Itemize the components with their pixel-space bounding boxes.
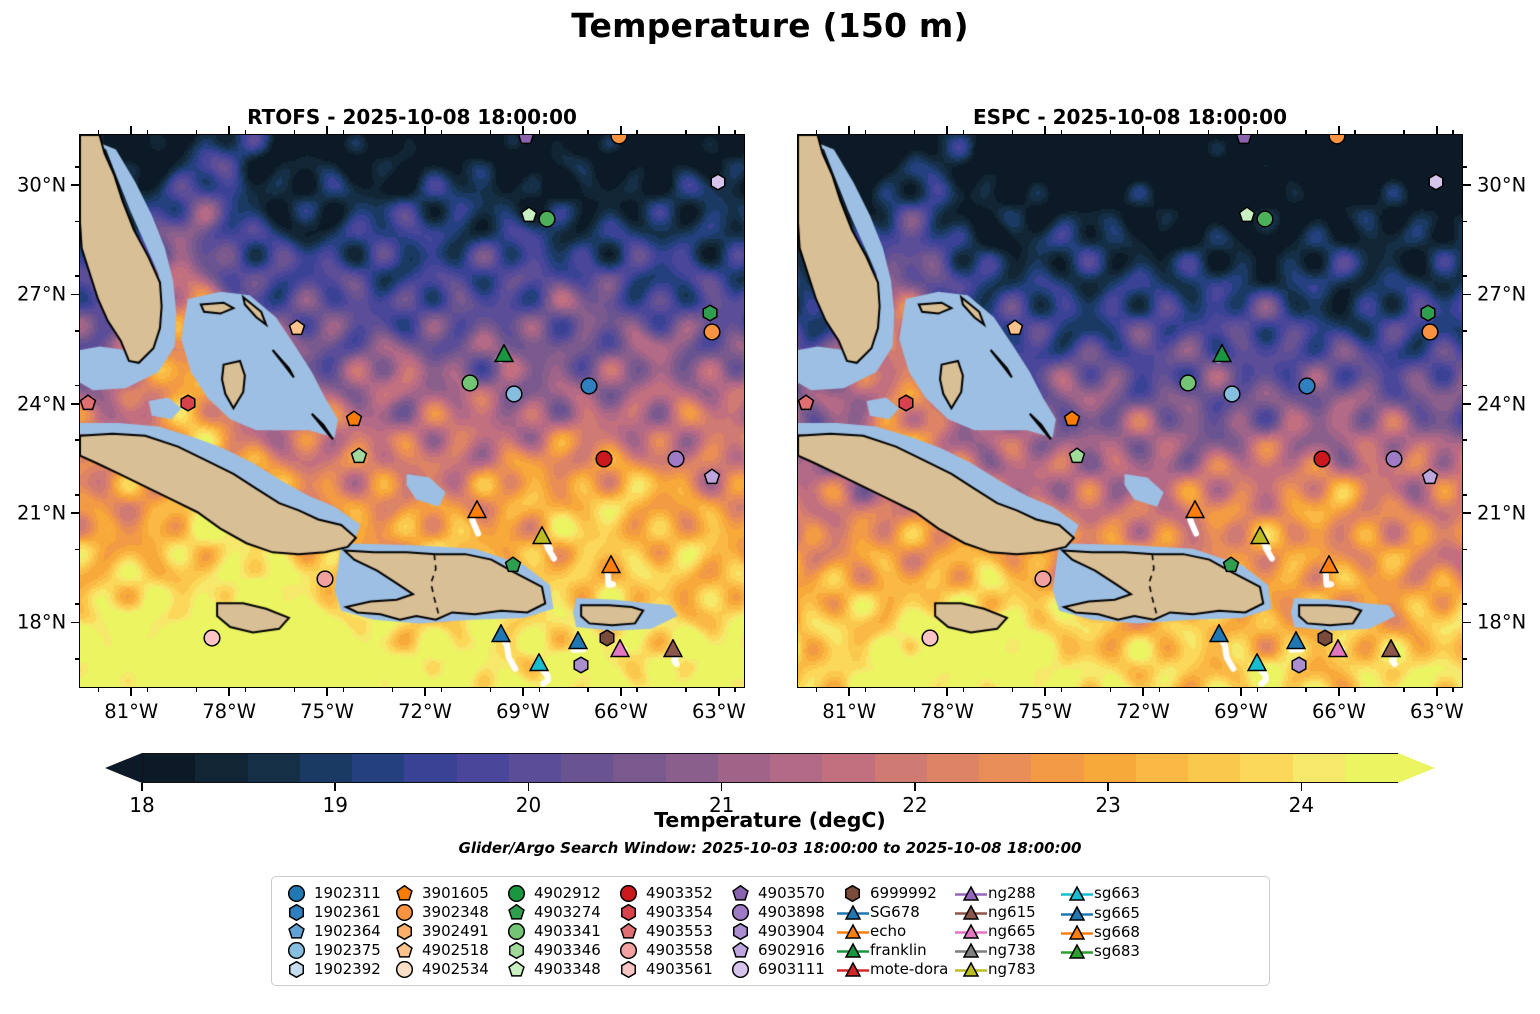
legend-item-3902491[interactable]: 3902491 xyxy=(388,922,500,941)
legend-item-3901605[interactable]: 3901605 xyxy=(388,884,500,903)
legend-column-6: 6999992 SG678 echo franklin mote-dora xyxy=(836,884,954,979)
legend-marker-hexagon-icon xyxy=(724,922,758,941)
legend-item-SG678[interactable]: SG678 xyxy=(836,903,954,922)
lon-tick xyxy=(1354,688,1356,692)
colorbar-segment xyxy=(509,754,563,782)
colorbar-segment xyxy=(1240,754,1294,782)
map-panel-rtofs[interactable] xyxy=(79,134,745,688)
legend-label: 1902364 xyxy=(314,922,381,941)
legend-label: 4902912 xyxy=(534,884,601,903)
legend-label: 4902518 xyxy=(422,941,489,960)
lon-tick xyxy=(441,688,443,692)
lon-tick xyxy=(1240,688,1242,696)
legend-item-mote-dora[interactable]: mote-dora xyxy=(836,960,954,979)
colorbar-tick xyxy=(141,783,143,791)
legend-marker-pentagon-icon xyxy=(612,922,646,941)
colorbar-segment xyxy=(770,754,824,782)
lon-tick xyxy=(865,688,867,692)
legend-marker-pentagon-icon xyxy=(724,884,758,903)
lon-label-66W-right: 66°W xyxy=(1312,700,1366,723)
lon-tick xyxy=(130,126,132,134)
legend-marker-circle-icon xyxy=(388,903,422,922)
legend-marker-circle-icon xyxy=(500,922,534,941)
lon-tick xyxy=(865,130,867,134)
colorbar-segment xyxy=(875,754,929,782)
lat-label-27N-left: 27°N xyxy=(17,283,66,306)
lat-tick xyxy=(71,512,79,514)
lat-tick xyxy=(71,294,79,296)
lon-tick xyxy=(392,130,394,134)
lon-label-66W-left: 66°W xyxy=(594,700,648,723)
lon-tick xyxy=(1159,130,1161,134)
lon-tick xyxy=(228,126,230,134)
lat-tick xyxy=(1463,439,1467,441)
legend-label: sg665 xyxy=(1094,904,1140,923)
lat-tick xyxy=(75,330,79,332)
legend-label: sg683 xyxy=(1094,942,1140,961)
legend-item-6903111[interactable]: 6903111 xyxy=(724,960,836,979)
lon-label-63W-left: 63°W xyxy=(692,700,746,723)
colorbar-segment xyxy=(195,754,249,782)
legend-box[interactable]: 1902311190236119023641902375190239239016… xyxy=(271,876,1270,986)
lat-tick xyxy=(1463,330,1467,332)
legend-label: 3902491 xyxy=(422,922,489,941)
legend-item-4903354[interactable]: 4903354 xyxy=(612,903,724,922)
lon-tick xyxy=(685,688,687,692)
lon-tick xyxy=(1142,688,1144,696)
legend-marker-circle-icon xyxy=(612,941,646,960)
lon-tick xyxy=(1159,688,1161,692)
legend-item-sg668[interactable]: sg668 xyxy=(1060,923,1164,942)
legend-marker-triangle-icon xyxy=(1060,904,1094,923)
legend-marker-hexagon-icon xyxy=(388,922,422,941)
panel-title-espc: ESPC - 2025-10-08 18:00:00 xyxy=(797,105,1463,129)
lon-tick xyxy=(816,130,818,134)
legend-column-5: 49035704903898490390469029166903111 xyxy=(724,884,836,979)
legend-label: sg663 xyxy=(1094,884,1140,903)
lon-tick xyxy=(539,688,541,692)
legend-marker-pentagon-icon xyxy=(724,941,758,960)
legend-label: 3902348 xyxy=(422,903,489,922)
lon-tick xyxy=(734,130,736,134)
lon-tick xyxy=(963,130,965,134)
legend-marker-triangle-icon xyxy=(1060,923,1094,942)
lat-tick xyxy=(1463,403,1471,405)
lon-tick xyxy=(147,130,149,134)
colorbar-segment xyxy=(666,754,720,782)
lon-tick xyxy=(1110,688,1112,692)
lon-tick xyxy=(1305,130,1307,134)
lon-tick xyxy=(685,130,687,134)
lon-tick xyxy=(1452,688,1454,692)
legend-label: ng288 xyxy=(988,884,1036,903)
legend-label: 6999992 xyxy=(870,884,937,903)
lon-label-78W-right: 78°W xyxy=(920,700,974,723)
lat-tick xyxy=(1463,294,1471,296)
lon-tick xyxy=(620,688,622,696)
lon-label-69W-left: 69°W xyxy=(496,700,550,723)
lon-tick xyxy=(424,126,426,134)
legend-label: 4903348 xyxy=(534,960,601,979)
legend-label: SG678 xyxy=(870,903,920,922)
lon-label-81W-right: 81°W xyxy=(822,700,876,723)
lon-tick xyxy=(1452,130,1454,134)
legend-marker-triangle-icon xyxy=(954,960,988,979)
legend-marker-triangle-icon xyxy=(954,903,988,922)
lon-label-72W-right: 72°W xyxy=(1116,700,1170,723)
figure-canvas: Temperature (150 m) RTOFS - 2025-10-08 1… xyxy=(0,0,1540,1014)
lat-label-24N-right: 24°N xyxy=(1477,392,1526,415)
lon-tick xyxy=(816,688,818,692)
panel-title-rtofs: RTOFS - 2025-10-08 18:00:00 xyxy=(79,105,745,129)
legend-marker-pentagon-icon xyxy=(388,941,422,960)
lat-tick xyxy=(1463,275,1467,277)
colorbar-segment xyxy=(143,754,197,782)
legend-item-4902912[interactable]: 4902912 xyxy=(500,884,612,903)
lat-tick xyxy=(71,622,79,624)
lon-tick xyxy=(636,688,638,692)
lat-tick xyxy=(75,439,79,441)
lon-tick xyxy=(98,688,100,692)
legend-item-4903348[interactable]: 4903348 xyxy=(500,960,612,979)
legend-label: 6903111 xyxy=(758,960,825,979)
legend-item-4902518[interactable]: 4902518 xyxy=(388,941,500,960)
colorbar-segment xyxy=(822,754,876,782)
colorbar-extend-low-arrow xyxy=(105,753,142,783)
legend-item-4903341[interactable]: 4903341 xyxy=(500,922,612,941)
legend-label: 4903561 xyxy=(646,960,713,979)
legend-label: 1902361 xyxy=(314,903,381,922)
colorbar-tick xyxy=(1107,783,1109,791)
legend-marker-pentagon-icon xyxy=(388,884,422,903)
legend-item-4903898[interactable]: 4903898 xyxy=(724,903,836,922)
lon-tick xyxy=(1044,688,1046,696)
lon-tick xyxy=(392,688,394,692)
legend-label: franklin xyxy=(870,941,927,960)
colorbar-segment xyxy=(1293,754,1347,782)
legend-marker-pentagon-icon xyxy=(500,960,534,979)
legend-marker-circle-icon xyxy=(388,960,422,979)
lon-tick xyxy=(1338,126,1340,134)
legend-label: 1902311 xyxy=(314,884,381,903)
lon-tick xyxy=(620,126,622,134)
lon-tick xyxy=(1240,126,1242,134)
legend-item-1902311[interactable]: 1902311 xyxy=(280,884,388,903)
lon-tick xyxy=(1338,688,1340,696)
legend-column-3: 49029124903274490334149033464903348 xyxy=(500,884,612,979)
lat-tick xyxy=(75,385,79,387)
legend-item-1902364[interactable]: 1902364 xyxy=(280,922,388,941)
colorbar-segment xyxy=(1031,754,1085,782)
lat-tick xyxy=(1463,385,1467,387)
lon-tick xyxy=(1208,130,1210,134)
legend-item-4903346[interactable]: 4903346 xyxy=(500,941,612,960)
colorbar-segment xyxy=(1188,754,1242,782)
legend-item-1902392[interactable]: 1902392 xyxy=(280,960,388,979)
legend-marker-circle-icon xyxy=(280,941,314,960)
lon-tick xyxy=(539,130,541,134)
lon-tick xyxy=(424,688,426,696)
legend-marker-triangle-icon xyxy=(1060,884,1094,903)
legend-marker-hexagon-icon xyxy=(612,960,646,979)
lon-tick xyxy=(914,130,916,134)
legend-label: sg668 xyxy=(1094,923,1140,942)
colorbar-segment xyxy=(561,754,615,782)
lat-label-18N-left: 18°N xyxy=(17,611,66,634)
lon-tick xyxy=(1436,126,1438,134)
legend-item-4903553[interactable]: 4903553 xyxy=(612,922,724,941)
legend-marker-triangle-icon xyxy=(836,903,870,922)
lon-tick xyxy=(294,130,296,134)
legend-label: 4903904 xyxy=(758,922,825,941)
colorbar-tick xyxy=(528,783,530,791)
lon-tick xyxy=(1208,688,1210,692)
legend-marker-circle-icon xyxy=(500,884,534,903)
lat-tick xyxy=(1463,622,1471,624)
legend-marker-circle-icon xyxy=(724,903,758,922)
legend-label: 4903558 xyxy=(646,941,713,960)
map-marker-ng615[interactable] xyxy=(663,639,683,663)
lon-tick xyxy=(490,688,492,692)
legend-marker-pentagon-icon xyxy=(280,922,314,941)
lon-tick xyxy=(1354,130,1356,134)
legend-label: 3901605 xyxy=(422,884,489,903)
lon-label-75W-left: 75°W xyxy=(300,700,354,723)
lon-tick xyxy=(946,126,948,134)
lat-tick xyxy=(75,166,79,168)
legend-label: 4902534 xyxy=(422,960,489,979)
legend-item-4903904[interactable]: 4903904 xyxy=(724,922,836,941)
legend-item-4903274[interactable]: 4903274 xyxy=(500,903,612,922)
lon-tick xyxy=(326,688,328,696)
figure-suptitle: Temperature (150 m) xyxy=(0,6,1540,45)
lon-tick xyxy=(848,688,850,696)
lat-tick xyxy=(1463,166,1467,168)
lon-tick xyxy=(522,688,524,696)
lon-tick xyxy=(343,688,345,692)
lon-label-69W-right: 69°W xyxy=(1214,700,1268,723)
lon-tick xyxy=(718,126,720,134)
lon-tick xyxy=(1012,688,1014,692)
colorbar-tick xyxy=(721,783,723,791)
map-marker-ng615[interactable] xyxy=(1381,639,1401,663)
legend-item-ng738[interactable]: ng738 xyxy=(954,941,1060,960)
colorbar-segment xyxy=(457,754,511,782)
lat-tick xyxy=(1463,603,1467,605)
lon-tick xyxy=(636,130,638,134)
lon-tick xyxy=(1142,126,1144,134)
lon-tick xyxy=(343,130,345,134)
legend-marker-triangle-icon xyxy=(836,941,870,960)
lat-label-18N-right: 18°N xyxy=(1477,611,1526,634)
lon-label-78W-left: 78°W xyxy=(202,700,256,723)
lon-tick xyxy=(1403,130,1405,134)
lon-tick xyxy=(1403,688,1405,692)
legend-marker-triangle-icon xyxy=(1060,942,1094,961)
legend-label: 1902392 xyxy=(314,960,381,979)
legend-label: 4903553 xyxy=(646,922,713,941)
colorbar-label: Temperature (degC) xyxy=(0,808,1540,832)
legend-label: ng783 xyxy=(988,960,1036,979)
legend-item-1902375[interactable]: 1902375 xyxy=(280,941,388,960)
legend-item-4902534[interactable]: 4902534 xyxy=(388,960,500,979)
lat-tick xyxy=(71,403,79,405)
colorbar-segment xyxy=(613,754,667,782)
colorbar-gradient xyxy=(142,753,1398,783)
lat-tick xyxy=(75,221,79,223)
lon-tick xyxy=(147,688,149,692)
legend-column-2: 39016053902348390249149025184902534 xyxy=(388,884,500,979)
legend-item-4903561[interactable]: 4903561 xyxy=(612,960,724,979)
lon-tick xyxy=(98,130,100,134)
colorbar-segment xyxy=(1345,754,1399,782)
lon-tick xyxy=(1257,688,1259,692)
legend-label: 4903570 xyxy=(758,884,825,903)
lon-label-81W-left: 81°W xyxy=(104,700,158,723)
legend-column-4: 49033524903354490355349035584903561 xyxy=(612,884,724,979)
legend-column-1: 19023111902361190236419023751902392 xyxy=(280,884,388,979)
lat-tick xyxy=(75,549,79,551)
lon-tick xyxy=(326,126,328,134)
legend-marker-hexagon-icon xyxy=(280,903,314,922)
lat-tick xyxy=(1463,549,1467,551)
legend-item-3902348[interactable]: 3902348 xyxy=(388,903,500,922)
legend-item-6999992[interactable]: 6999992 xyxy=(836,884,954,903)
legend-item-sg663[interactable]: sg663 xyxy=(1060,884,1164,903)
legend-marker-triangle-icon xyxy=(954,884,988,903)
legend-label: 4903898 xyxy=(758,903,825,922)
legend-label: ng665 xyxy=(988,922,1036,941)
legend-marker-triangle-icon xyxy=(954,922,988,941)
legend-item-1902361[interactable]: 1902361 xyxy=(280,903,388,922)
legend-item-ng783[interactable]: ng783 xyxy=(954,960,1060,979)
colorbar-segment xyxy=(927,754,981,782)
lon-tick xyxy=(848,126,850,134)
colorbar-segment xyxy=(718,754,772,782)
legend-marker-pentagon-icon xyxy=(500,903,534,922)
lon-tick xyxy=(130,688,132,696)
colorbar-segment xyxy=(352,754,406,782)
legend-marker-circle-icon xyxy=(280,884,314,903)
lat-tick xyxy=(71,184,79,186)
colorbar-segment xyxy=(248,754,302,782)
lon-tick xyxy=(1012,130,1014,134)
legend-marker-hexagon-icon xyxy=(280,960,314,979)
legend-item-franklin[interactable]: franklin xyxy=(836,941,954,960)
legend-marker-hexagon-icon xyxy=(500,941,534,960)
lon-tick xyxy=(914,688,916,692)
legend-item-sg683[interactable]: sg683 xyxy=(1060,942,1164,961)
legend-item-sg665[interactable]: sg665 xyxy=(1060,903,1164,922)
lat-label-24N-left: 24°N xyxy=(17,392,66,415)
colorbar-extend-high-arrow xyxy=(1398,753,1435,783)
colorbar-segment xyxy=(979,754,1033,782)
lon-tick xyxy=(734,688,736,692)
legend-label: 4903341 xyxy=(534,922,601,941)
lon-tick xyxy=(587,130,589,134)
legend-label: 4903352 xyxy=(646,884,713,903)
legend-marker-triangle-icon xyxy=(836,960,870,979)
legend-marker-hexagon-icon xyxy=(612,903,646,922)
lon-tick xyxy=(1061,130,1063,134)
lon-tick xyxy=(522,126,524,134)
lat-label-21N-right: 21°N xyxy=(1477,502,1526,525)
lat-label-30N-left: 30°N xyxy=(17,174,66,197)
lon-tick xyxy=(587,688,589,692)
legend-item-6902916[interactable]: 6902916 xyxy=(724,941,836,960)
colorbar-segment xyxy=(1136,754,1190,782)
map-panel-espc[interactable] xyxy=(797,134,1463,688)
colorbar-tick xyxy=(914,783,916,791)
lat-tick xyxy=(1463,221,1467,223)
legend-item-ng665[interactable]: ng665 xyxy=(954,922,1060,941)
lon-tick xyxy=(1305,688,1307,692)
legend-marker-hexagon-icon xyxy=(836,884,870,903)
lat-tick xyxy=(1463,658,1467,660)
legend-item-4903558[interactable]: 4903558 xyxy=(612,941,724,960)
lat-tick xyxy=(75,603,79,605)
legend-item-4903352[interactable]: 4903352 xyxy=(612,884,724,903)
lat-label-30N-right: 30°N xyxy=(1477,174,1526,197)
colorbar-tick xyxy=(1301,783,1303,791)
legend-column-7: ng288 ng615 ng665 ng738 ng783 xyxy=(954,884,1060,979)
legend-label: 4903346 xyxy=(534,941,601,960)
glider-track-ng615 xyxy=(798,135,1463,688)
lon-tick xyxy=(1110,130,1112,134)
lat-tick xyxy=(1463,494,1467,496)
colorbar-segment xyxy=(1084,754,1138,782)
search-window-caption: Glider/Argo Search Window: 2025-10-03 18… xyxy=(0,839,1540,857)
legend-label: 6902916 xyxy=(758,941,825,960)
lon-tick xyxy=(1044,126,1046,134)
legend-marker-triangle-icon xyxy=(954,941,988,960)
lon-tick xyxy=(1061,688,1063,692)
lat-label-27N-right: 27°N xyxy=(1477,283,1526,306)
legend-label: echo xyxy=(870,922,906,941)
legend-label: ng615 xyxy=(988,903,1036,922)
lat-tick xyxy=(1463,184,1471,186)
lon-tick xyxy=(196,130,198,134)
legend-label: ng738 xyxy=(988,941,1036,960)
lon-tick xyxy=(1436,688,1438,696)
legend-item-4903570[interactable]: 4903570 xyxy=(724,884,836,903)
legend-item-ng288[interactable]: ng288 xyxy=(954,884,1060,903)
lon-label-75W-right: 75°W xyxy=(1018,700,1072,723)
lon-label-72W-left: 72°W xyxy=(398,700,452,723)
lon-tick xyxy=(441,130,443,134)
colorbar: 18192021222324 xyxy=(105,753,1435,783)
legend-item-ng615[interactable]: ng615 xyxy=(954,903,1060,922)
lat-tick xyxy=(75,494,79,496)
legend-label: mote-dora xyxy=(870,960,948,979)
legend-item-echo[interactable]: echo xyxy=(836,922,954,941)
legend-marker-triangle-icon xyxy=(836,922,870,941)
glider-track-ng615 xyxy=(80,135,745,688)
lat-tick xyxy=(1463,512,1471,514)
colorbar-tick xyxy=(334,783,336,791)
colorbar-segment xyxy=(404,754,458,782)
lat-label-21N-left: 21°N xyxy=(17,502,66,525)
lat-tick xyxy=(75,658,79,660)
lon-tick xyxy=(196,688,198,692)
legend-label: 4903354 xyxy=(646,903,713,922)
lon-tick xyxy=(245,130,247,134)
lon-tick xyxy=(490,130,492,134)
lon-tick xyxy=(245,688,247,692)
lon-tick xyxy=(228,688,230,696)
lon-tick xyxy=(718,688,720,696)
legend-marker-circle-icon xyxy=(612,884,646,903)
